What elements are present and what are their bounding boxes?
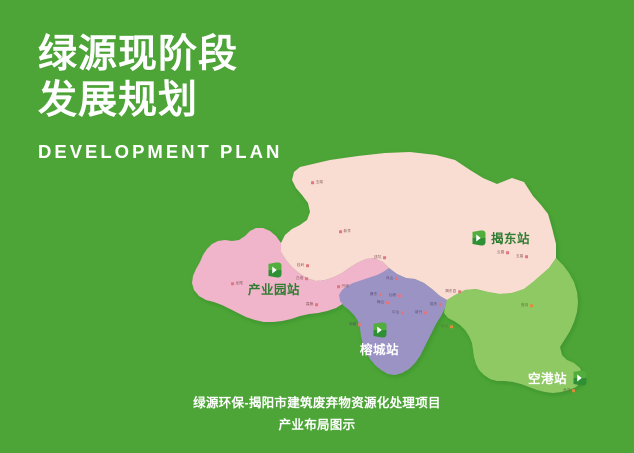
station-rongcheng[interactable]: 榕城站 [360,322,399,358]
lvyuan-logo-icon [471,230,486,246]
station-jiedong[interactable]: 揭东站 [471,228,530,247]
lvyuan-logo-icon [372,322,387,338]
map-region-jiedong [281,152,556,300]
station-rongcheng-label: 榕城站 [360,339,399,358]
lvyuan-logo-icon [572,370,587,386]
station-konggang[interactable]: 空港站 [528,368,587,387]
poster-canvas: 绿源现阶段 发展规划 DEVELOPMENT PLAN 玉湖新亨钱坑丹城龙尾桂岭… [0,0,634,453]
station-chanyeyuan-label: 产业园站 [248,279,300,298]
lvyuan-logo-icon [267,262,282,278]
station-jiedong-label: 揭东站 [491,228,530,247]
station-chanyeyuan[interactable]: 产业园站 [248,262,300,298]
station-konggang-label: 空港站 [528,368,567,387]
